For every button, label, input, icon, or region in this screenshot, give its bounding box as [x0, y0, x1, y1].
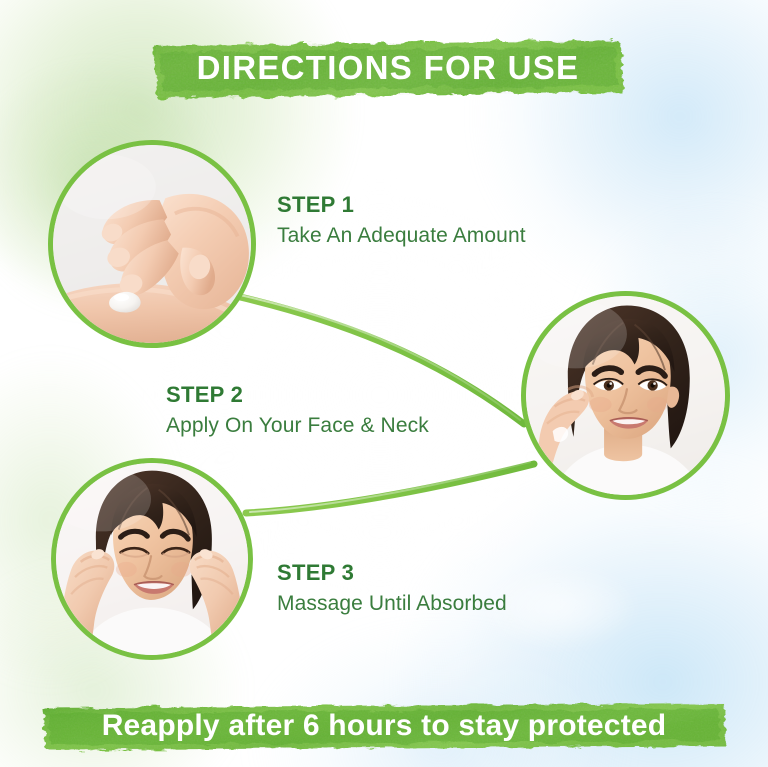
header-banner: DIRECTIONS FOR USE: [150, 36, 626, 102]
step-1-description: Take An Adequate Amount: [277, 223, 526, 248]
woman-massaging-face-image: [56, 463, 248, 655]
footer-note: Reapply after 6 hours to stay protected: [102, 709, 667, 743]
directions-for-use-poster: DIRECTIONS FOR USE: [0, 0, 768, 767]
page-title: DIRECTIONS FOR USE: [197, 49, 580, 87]
connector-step3-to-step2: [246, 462, 534, 513]
step-2-text-block: STEP 2 Apply On Your Face & Neck: [166, 382, 429, 438]
step-3-photo-circle: [51, 458, 253, 660]
step-1-text-block: STEP 1 Take An Adequate Amount: [277, 192, 526, 248]
step-1-heading: STEP 1: [277, 192, 526, 217]
woman-applying-cream-image: [526, 296, 725, 495]
footer-banner: Reapply after 6 hours to stay protected: [40, 700, 728, 754]
step-3-heading: STEP 3: [277, 560, 507, 585]
hand-dispensing-cream-image: [53, 145, 251, 343]
step-2-heading: STEP 2: [166, 382, 429, 407]
step-3-description: Massage Until Absorbed: [277, 591, 507, 616]
step-2-description: Apply On Your Face & Neck: [166, 413, 429, 438]
step-3-text-block: STEP 3 Massage Until Absorbed: [277, 560, 507, 616]
step-1-photo-circle: [48, 140, 256, 348]
step-2-photo-circle: [521, 291, 730, 500]
